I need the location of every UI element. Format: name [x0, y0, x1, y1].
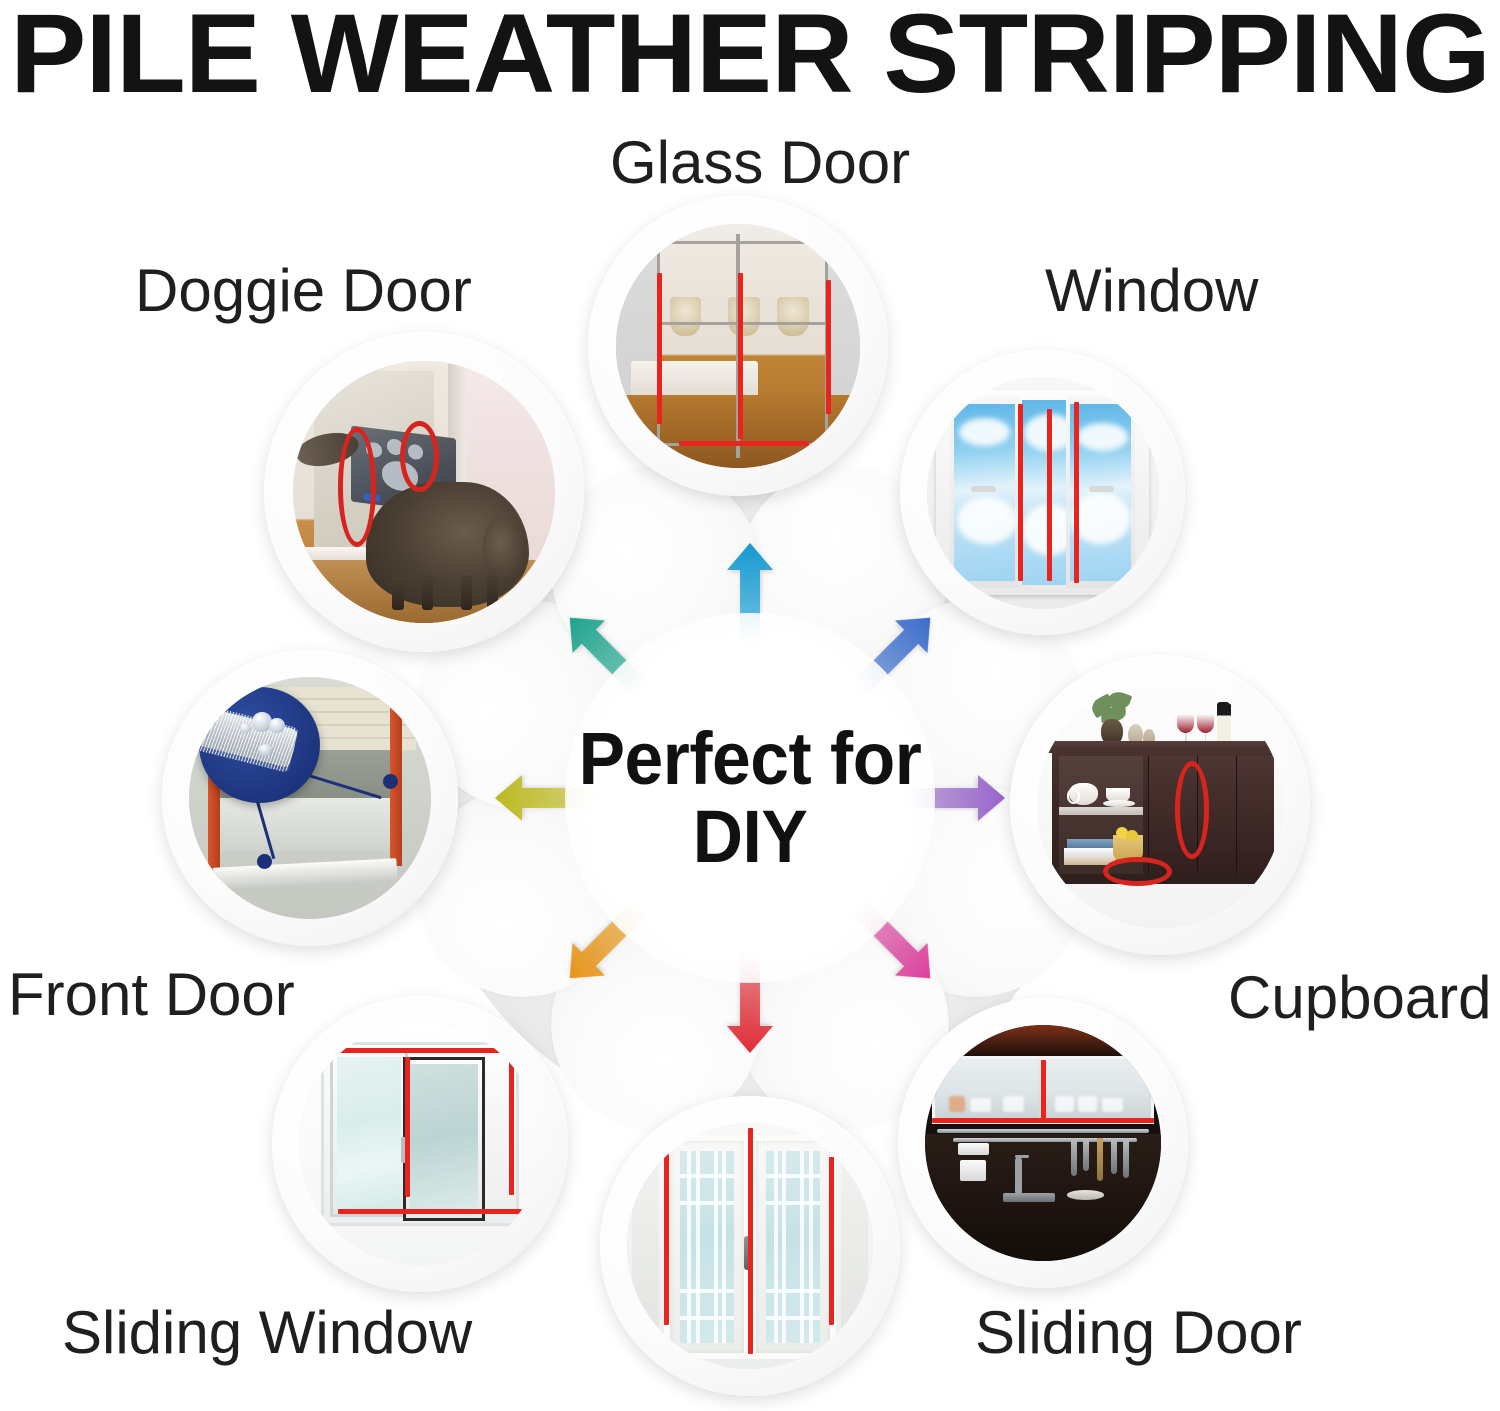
infographic-canvas: PILE WEATHER STRIPPING Glass Door Doggie…: [0, 0, 1500, 1411]
photo-sliding-window: [299, 1023, 541, 1265]
node-sliding-door[interactable]: [898, 998, 1188, 1288]
node-sliding-window[interactable]: [272, 996, 568, 1292]
leader-dot: [257, 854, 272, 869]
seal-line: [829, 1157, 834, 1324]
seal-line: [1018, 404, 1023, 580]
seal-line: [679, 441, 808, 446]
seal-line: [338, 1209, 522, 1214]
photo-front-door: [189, 677, 431, 919]
leader-dot: [383, 774, 398, 789]
node-front-door[interactable]: [162, 650, 458, 946]
annotation-ellipse: [338, 427, 377, 547]
seal-line: [1074, 402, 1079, 583]
node-glass-door[interactable]: [588, 196, 888, 496]
seal-line: [405, 1057, 410, 1197]
hub-center-text: Perfect for DIY: [540, 720, 960, 876]
node-window[interactable]: [900, 350, 1185, 635]
label-glass-door: Glass Door: [610, 130, 910, 196]
hub-text-line2: DIY: [553, 798, 948, 876]
seal-line: [738, 273, 743, 439]
photo-window: [927, 377, 1159, 609]
photo-glass-door: [616, 224, 860, 468]
label-doggie-door: Doggie Door: [135, 258, 472, 324]
label-window: Window: [1045, 258, 1258, 324]
label-sliding-window: Sliding Window: [62, 1300, 472, 1366]
annotation-ellipse: [400, 421, 439, 491]
node-cupboard[interactable]: [1010, 655, 1310, 955]
seal-line: [657, 273, 662, 424]
photo-sliding-door: [925, 1025, 1161, 1261]
seal-line: [826, 280, 831, 414]
seal-line: [323, 1048, 512, 1053]
seal-line: [1047, 409, 1052, 581]
photo-cupboard: [1037, 682, 1283, 928]
label-sliding-door: Sliding Door: [975, 1300, 1302, 1366]
annotation-ellipse: [1175, 761, 1210, 860]
seal-line: [1041, 1060, 1046, 1119]
seal-line: [509, 1054, 514, 1194]
page-title: PILE WEATHER STRIPPING: [0, 0, 1500, 114]
seal-line: [664, 1153, 669, 1325]
node-doggie-door[interactable]: [264, 332, 584, 652]
hub-text-line1: Perfect for: [553, 720, 948, 798]
photo-doggie-door: [293, 361, 555, 623]
label-cupboard: Cupboard: [1228, 965, 1492, 1031]
label-front-door: Front Door: [8, 962, 295, 1028]
seal-line: [748, 1128, 753, 1354]
photo-french-door: [627, 1123, 873, 1369]
node-french-door[interactable]: [600, 1096, 900, 1396]
magnifier-callout: [199, 687, 320, 803]
